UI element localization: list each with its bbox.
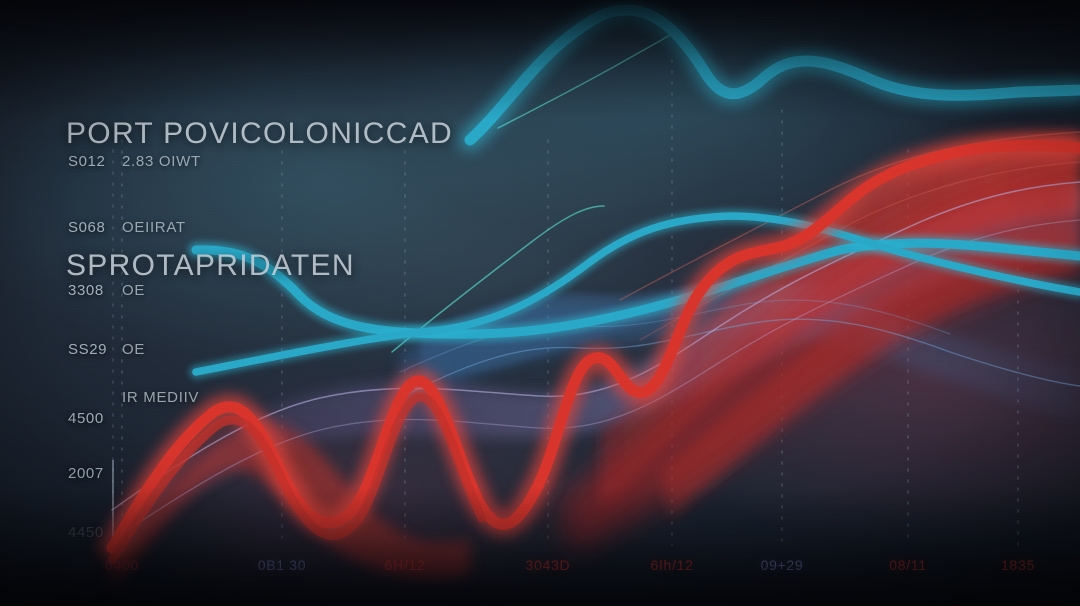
y-axis-tick-label: 3308 bbox=[68, 282, 104, 299]
y-axis-tick-label: SS29 bbox=[68, 341, 107, 358]
y-axis-sub-label: 2.83 OIWT bbox=[122, 153, 201, 170]
y-axis-sub-label: IR MEDIIV bbox=[122, 389, 199, 406]
x-axis-tick-label: 0B1 30 bbox=[258, 557, 307, 573]
x-axis-tick-label: 09+29 bbox=[761, 557, 804, 573]
x-axis-tick-label: 3043D bbox=[526, 557, 571, 573]
y-axis-tick-label: S012 bbox=[68, 153, 105, 170]
x-axis-tick-label: 6Ih/12 bbox=[650, 557, 693, 573]
chart-title: PORT POVICOLONICCAD SPROTAPRIDATEN bbox=[66, 24, 453, 376]
x-axis-tick-label: 6H/12 bbox=[385, 557, 426, 573]
chart-canvas: PORT POVICOLONICCAD SPROTAPRIDATEN S012S… bbox=[0, 0, 1080, 606]
y-axis-tick-label: 4450 bbox=[68, 524, 104, 541]
x-axis-tick-label: 08/11 bbox=[889, 557, 927, 573]
y-axis-tick-label: S068 bbox=[68, 219, 105, 236]
x-axis-tick-label: 0400 bbox=[105, 557, 139, 573]
title-line-1: PORT POVICOLONICCAD bbox=[66, 112, 453, 156]
y-axis-tick-label: 2007 bbox=[68, 465, 104, 482]
y-axis-sub-label: OE bbox=[122, 341, 145, 358]
x-axis-tick-label: 1835 bbox=[1001, 557, 1035, 573]
y-axis-tick-label: 4500 bbox=[68, 410, 104, 427]
y-axis-sub-label: OE bbox=[122, 282, 145, 299]
y-axis-sub-label: OEIIRAT bbox=[122, 219, 186, 236]
